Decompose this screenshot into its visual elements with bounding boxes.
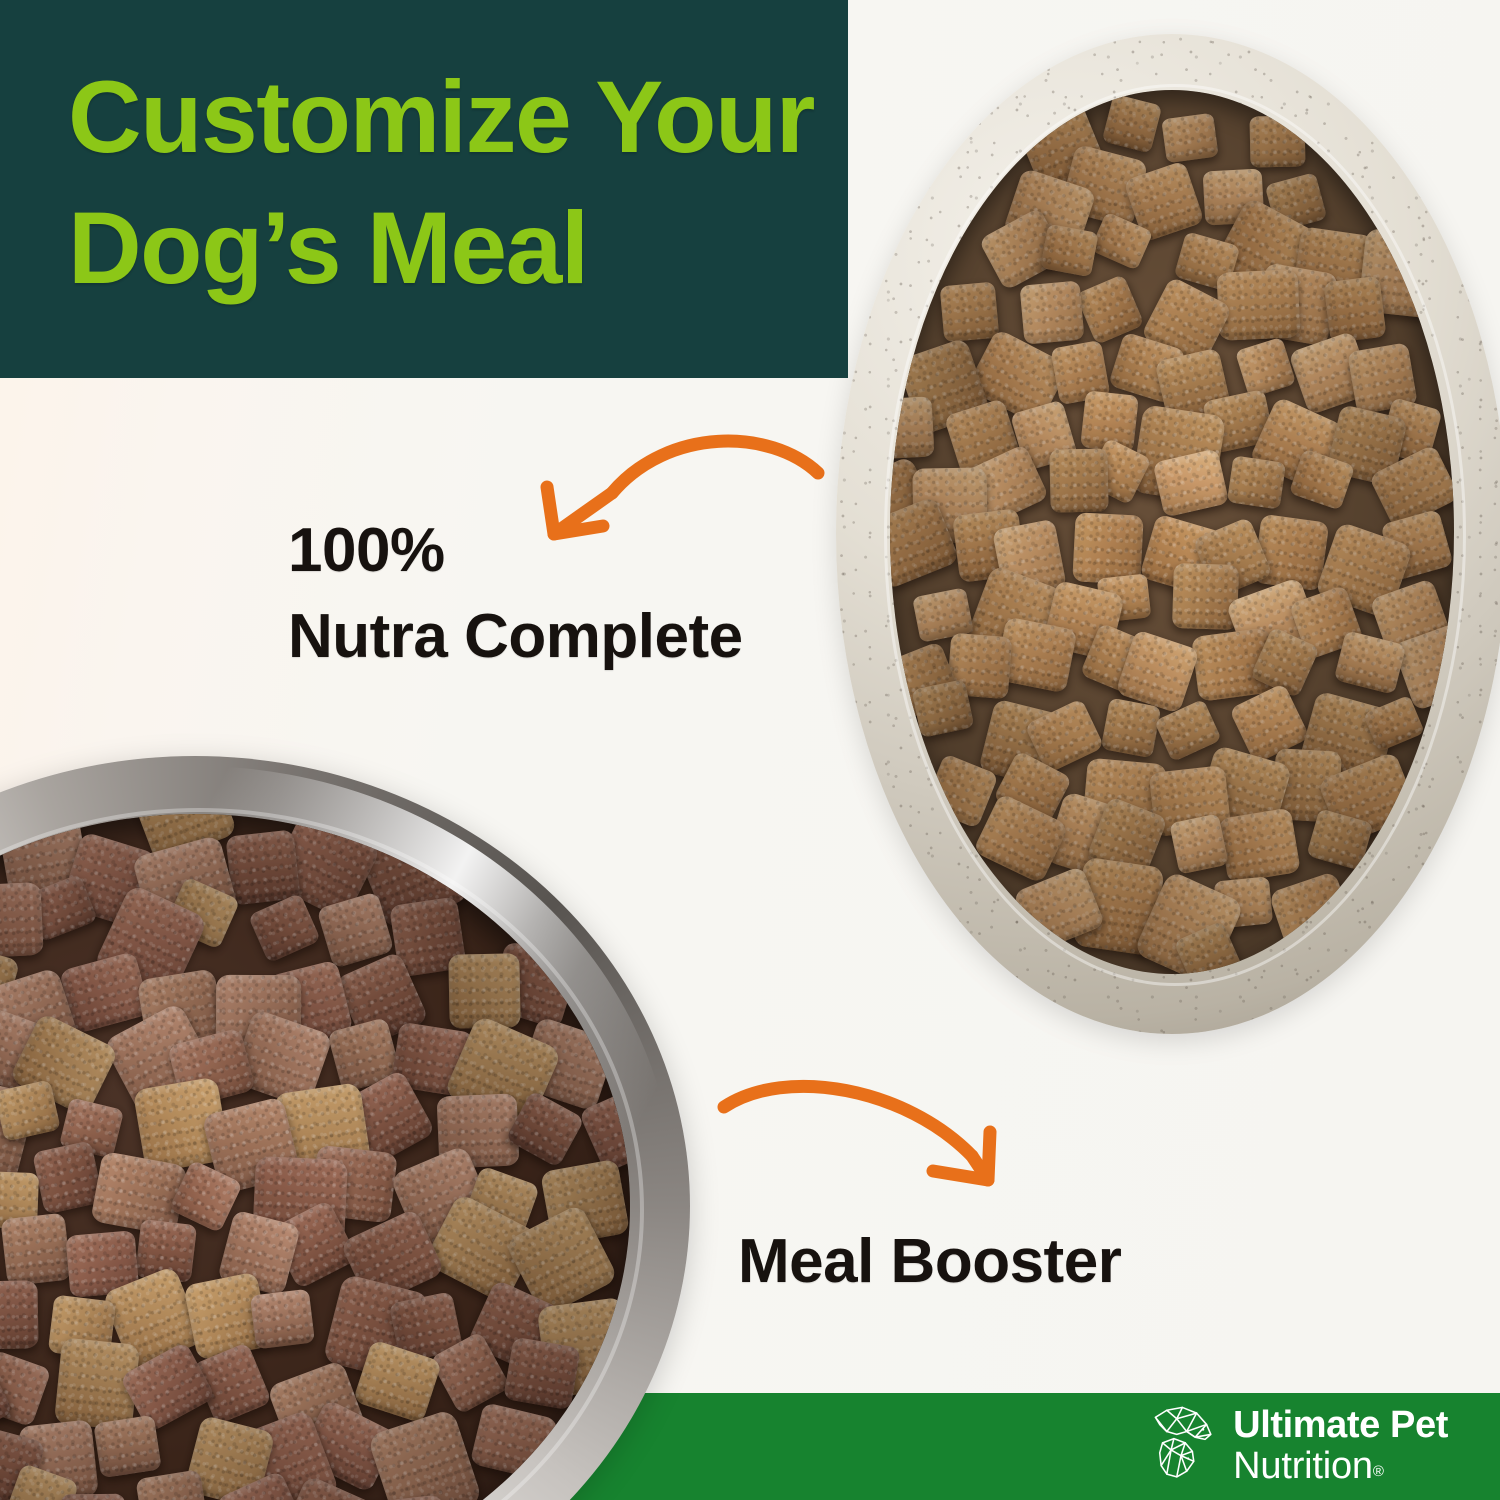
brand-logo: Ultimate Pet Nutrition® bbox=[1145, 1404, 1448, 1486]
food-cube bbox=[1072, 512, 1143, 584]
callout-label-meal-booster: Meal Booster bbox=[738, 1222, 1121, 1303]
food-cube bbox=[470, 1402, 559, 1481]
food-cube bbox=[911, 679, 974, 738]
food-cube bbox=[1169, 813, 1228, 874]
food-cube bbox=[0, 1280, 39, 1349]
food-cube bbox=[225, 829, 300, 905]
ceramic-bowl-interior bbox=[890, 90, 1454, 974]
brand-name-nutrition: Nutrition bbox=[1233, 1445, 1373, 1487]
food-cube bbox=[1049, 449, 1109, 514]
dog-cat-head-logo-icon bbox=[1145, 1406, 1217, 1484]
food-cube bbox=[890, 396, 934, 459]
food-cube bbox=[1040, 224, 1098, 277]
food-cube bbox=[0, 1213, 71, 1287]
food-cube bbox=[93, 1415, 161, 1478]
food-cube bbox=[61, 1494, 126, 1500]
food-cube bbox=[1161, 113, 1218, 164]
brand-wordmark: Ultimate Pet Nutrition® bbox=[1233, 1406, 1448, 1485]
food-cube bbox=[1235, 337, 1296, 398]
food-cube bbox=[1249, 115, 1305, 167]
food-cube bbox=[0, 1350, 52, 1428]
food-cube bbox=[1324, 276, 1387, 344]
food-cube bbox=[1101, 94, 1161, 154]
food-cube bbox=[1218, 807, 1300, 883]
food-cube bbox=[367, 1409, 483, 1500]
brand-name-line2: Nutrition® bbox=[1233, 1447, 1448, 1485]
food-cube bbox=[0, 1080, 61, 1143]
curved-arrow-down-left-icon bbox=[520, 430, 840, 560]
registered-trademark-symbol: ® bbox=[1373, 1463, 1384, 1480]
food-cube bbox=[250, 1289, 315, 1350]
food-cube bbox=[1172, 563, 1239, 630]
food-cube bbox=[0, 882, 44, 959]
brand-name-line1: Ultimate Pet bbox=[1233, 1406, 1448, 1444]
food-cube bbox=[1227, 455, 1287, 509]
food-cube bbox=[503, 1337, 581, 1410]
steel-food-bowl bbox=[0, 756, 690, 1500]
curved-arrow-down-right-icon bbox=[690, 1060, 1030, 1210]
food-cube bbox=[448, 953, 521, 1028]
food-cube bbox=[135, 1469, 209, 1500]
food-cube bbox=[1101, 698, 1162, 758]
page-title: Customize Your Dog’s Meal bbox=[68, 52, 968, 313]
food-cube bbox=[1019, 281, 1084, 345]
food-cube bbox=[1217, 269, 1301, 341]
product-marketing-image: Customize Your Dog’s Meal 100% Nutra Com… bbox=[0, 0, 1500, 1500]
